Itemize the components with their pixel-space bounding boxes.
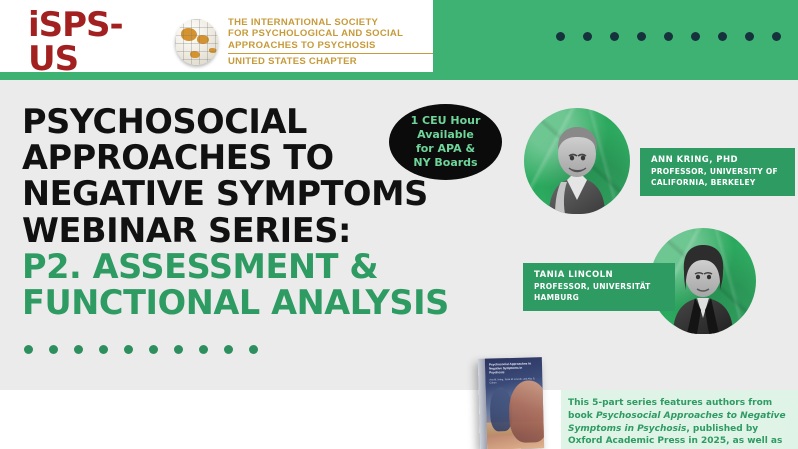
org-line-3: APPROACHES TO PSYCHOSIS [228, 40, 433, 51]
isps-wordmark: iSPS-US [28, 8, 165, 76]
title-dot [49, 345, 58, 354]
webinar-promo-poster: iSPS-US THE INTERNATIONAL SOCIETY FOR PS… [0, 0, 798, 449]
header-dot [745, 32, 754, 41]
title-dot [224, 345, 233, 354]
header-dot [583, 32, 592, 41]
logo-divider [228, 53, 433, 54]
title-line-5: P2. ASSESSMENT & [22, 249, 502, 285]
title-dot [149, 345, 158, 354]
speaker-nameplate: TANIA LINCOLN PROFESSOR, UNIVERSITÄT HAM… [523, 263, 675, 311]
isps-logo: iSPS-US THE INTERNATIONAL SOCIETY FOR PS… [28, 8, 433, 76]
org-line-1: THE INTERNATIONAL SOCIETY [228, 17, 433, 28]
book-art-figure-right [508, 380, 544, 443]
header-dot [664, 32, 673, 41]
org-name-block: THE INTERNATIONAL SOCIETY FOR PSYCHOLOGI… [228, 17, 433, 67]
header-dot [718, 32, 727, 41]
title-line-6: FUNCTIONAL ANALYSIS [22, 285, 502, 321]
title-dot [174, 345, 183, 354]
speaker-name: TANIA LINCOLN [534, 270, 665, 281]
speaker-role-line-1: PROFESSOR, UNIVERSITÄT [534, 282, 665, 292]
title-line-3: NEGATIVE SYMPTOMS [22, 176, 502, 212]
speaker-name: ANN KRING, PHD [651, 155, 785, 166]
ceu-line-1: 1 CEU Hour [411, 114, 481, 127]
title-dot [249, 345, 258, 354]
speaker-photo-ann-kring [524, 108, 630, 214]
speaker-role-line-1: PROFESSOR, UNIVERSITY OF [651, 167, 785, 177]
title-dot [124, 345, 133, 354]
title-dot-decoration [24, 345, 258, 354]
header-dot-decoration [556, 32, 798, 41]
header-dot [610, 32, 619, 41]
ceu-badge-text: 1 CEU Hour Available for APA & NY Boards [411, 114, 481, 170]
org-chapter: UNITED STATES CHAPTER [228, 56, 433, 67]
book-cover-title: Psychosocial Approaches to Negative Symp… [489, 361, 538, 375]
header-dot [637, 32, 646, 41]
title-line-4: WEBINAR SERIES: [22, 213, 502, 249]
globe-icon [175, 19, 218, 65]
ceu-line-2: Available [417, 128, 474, 141]
title-dot [199, 345, 208, 354]
ceu-credit-badge: 1 CEU Hour Available for APA & NY Boards [389, 104, 502, 180]
header-dot [556, 32, 565, 41]
title-dot [74, 345, 83, 354]
header-dot [772, 32, 781, 41]
ceu-line-4: NY Boards [413, 156, 477, 169]
series-caption: This 5-part series features authors from… [561, 390, 798, 449]
speaker-nameplate: ANN KRING, PHD PROFESSOR, UNIVERSITY OF … [640, 148, 795, 196]
avatar [531, 114, 623, 214]
logo-panel: iSPS-US THE INTERNATIONAL SOCIETY FOR PS… [0, 0, 433, 72]
book-cover-authors: Ann M. Kring, Tania M. Lincoln, and Alex… [489, 377, 538, 385]
speaker-role-line-2: HAMBURG [534, 293, 665, 303]
header-dot [691, 32, 700, 41]
book-front-cover: Psychosocial Approaches to Negative Symp… [485, 357, 544, 449]
org-line-2: FOR PSYCHOLOGICAL AND SOCIAL [228, 28, 433, 39]
title-dot [24, 345, 33, 354]
title-dot [99, 345, 108, 354]
speaker-role-line-2: CALIFORNIA, BERKELEY [651, 178, 785, 188]
book-cover-image: Psychosocial Approaches to Negative Symp… [478, 357, 544, 449]
ceu-line-3: for APA & [416, 142, 475, 155]
